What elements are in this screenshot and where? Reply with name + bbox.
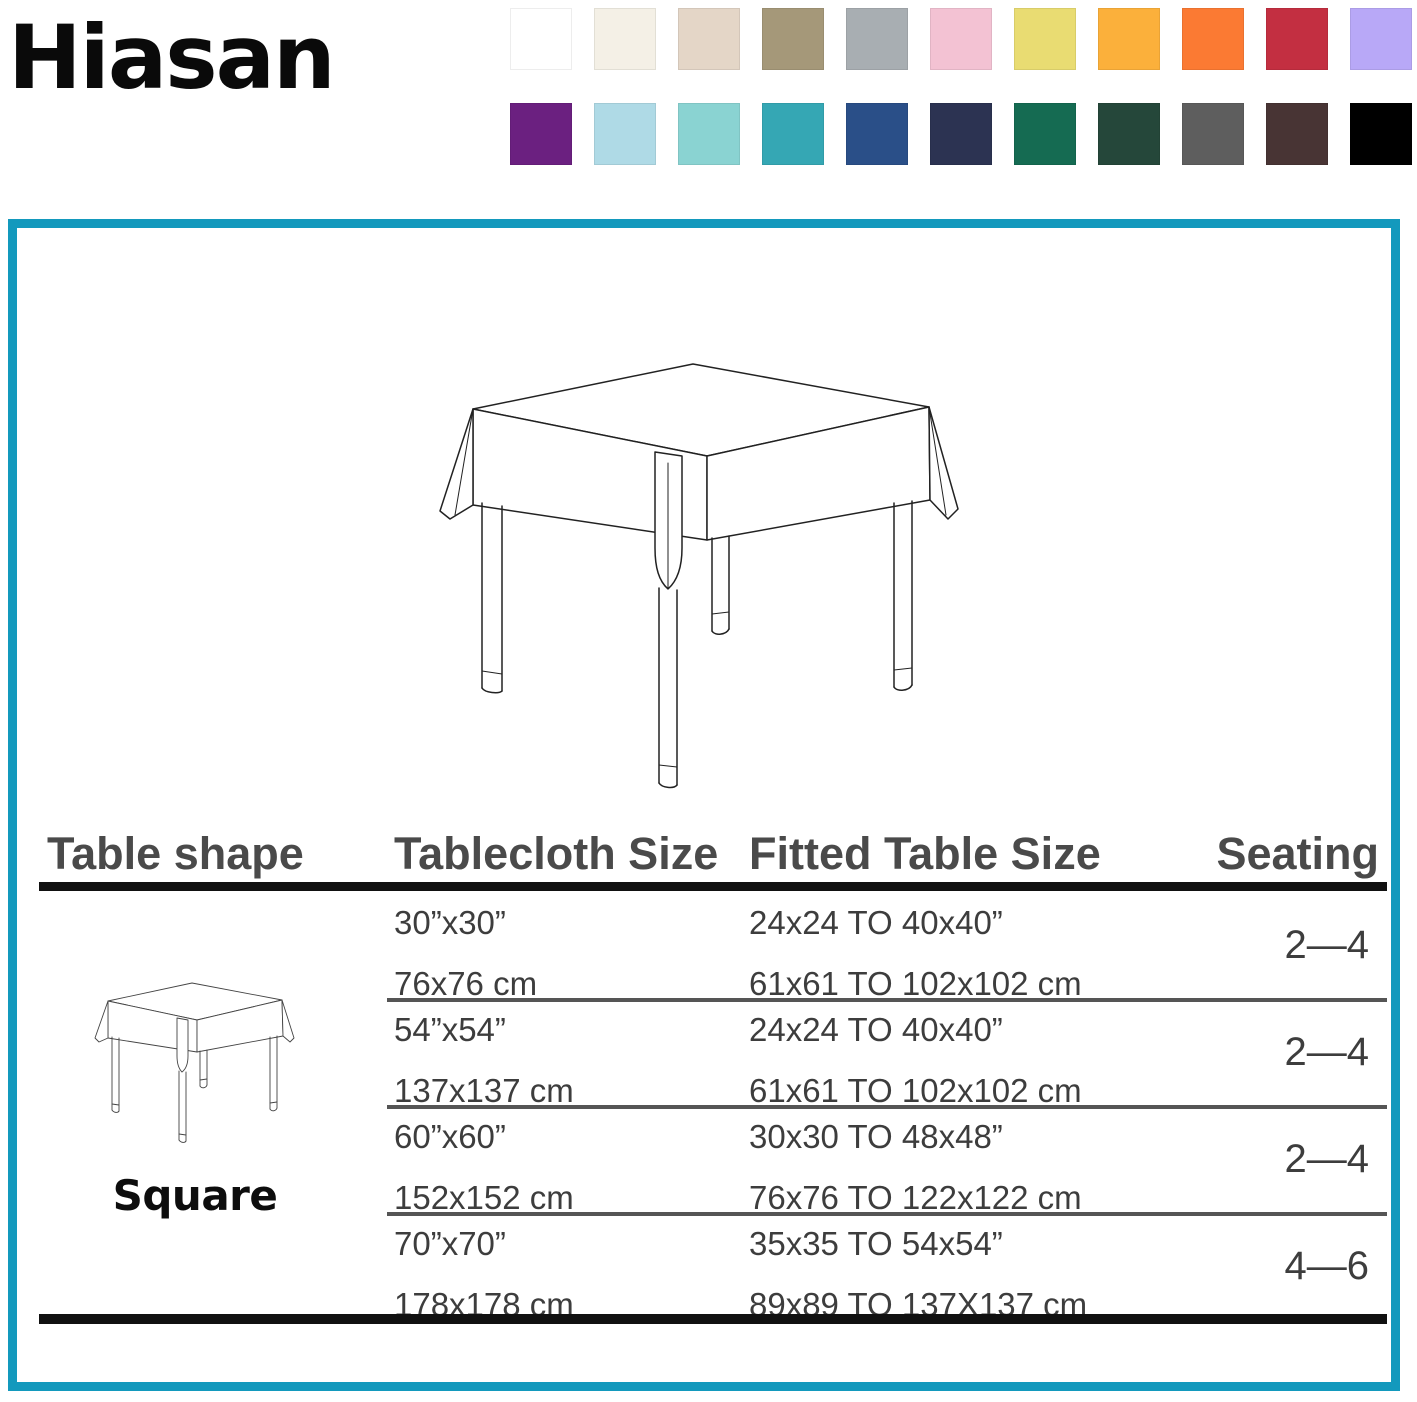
cell-tablecloth-size: 54”x54”137x137 cm: [394, 1008, 574, 1113]
table-row: 30”x30”76x76 cm24x24 TO 40x40”61x61 TO 1…: [39, 891, 1387, 998]
fitted-table-size-inches: 30x30 TO 48x48”: [749, 1118, 1003, 1155]
color-swatch-forest-green[interactable]: [1098, 103, 1160, 165]
table-row: 54”x54”137x137 cm24x24 TO 40x40”61x61 TO…: [39, 998, 1387, 1105]
color-swatch-grid: [510, 8, 1410, 198]
table-row: 70”x70”178x178 cm35x35 TO 54x54”89x89 TO…: [39, 1212, 1387, 1319]
column-header-fitted-table-size: Fitted Table Size: [749, 831, 1101, 876]
color-swatch-aqua[interactable]: [678, 103, 740, 165]
color-swatch-pink[interactable]: [930, 8, 992, 70]
color-swatch-light-blue[interactable]: [594, 103, 656, 165]
color-swatch-yellow[interactable]: [1014, 8, 1076, 70]
fitted-table-size-inches: 24x24 TO 40x40”: [749, 904, 1003, 941]
color-swatch-dark-gray[interactable]: [1182, 103, 1244, 165]
fitted-table-size-inches: 35x35 TO 54x54”: [749, 1225, 1003, 1262]
fitted-table-size-inches: 24x24 TO 40x40”: [749, 1011, 1003, 1048]
cell-fitted-table-size: 30x30 TO 48x48”76x76 TO 122x122 cm: [749, 1115, 1082, 1220]
color-swatch-gray[interactable]: [846, 8, 908, 70]
tablecloth-size-inches: 54”x54”: [394, 1011, 506, 1048]
color-swatch-beige[interactable]: [678, 8, 740, 70]
color-swatch-row-2: [510, 103, 1410, 165]
color-swatch-white[interactable]: [510, 8, 572, 70]
tablecloth-size-inches: 30”x30”: [394, 904, 506, 941]
cell-fitted-table-size: 24x24 TO 40x40”61x61 TO 102x102 cm: [749, 1008, 1082, 1113]
square-table-illustration: [407, 333, 987, 813]
cell-seating: 2—4: [1285, 1025, 1370, 1079]
tablecloth-size-inches: 70”x70”: [394, 1225, 506, 1262]
cell-seating: 2—4: [1285, 918, 1370, 972]
brand-logo: Hiasan: [8, 14, 334, 102]
top-bar: Hiasan: [0, 0, 1417, 200]
header-divider: [39, 882, 1387, 891]
table-header-row: Table shape Tablecloth Size Fitted Table…: [39, 808, 1387, 876]
color-swatch-black[interactable]: [1350, 103, 1412, 165]
color-swatch-row-1: [510, 8, 1410, 70]
color-swatch-purple[interactable]: [510, 103, 572, 165]
color-swatch-ivory[interactable]: [594, 8, 656, 70]
color-swatch-dark-brown[interactable]: [1266, 103, 1328, 165]
color-swatch-crimson[interactable]: [1266, 8, 1328, 70]
column-header-seating: Seating: [1216, 831, 1379, 876]
table-body: 30”x30”76x76 cm24x24 TO 40x40”61x61 TO 1…: [39, 891, 1387, 1319]
color-swatch-teal[interactable]: [762, 103, 824, 165]
size-chart-table: Table shape Tablecloth Size Fitted Table…: [39, 808, 1387, 1319]
table-bottom-divider: [39, 1314, 1387, 1324]
cell-fitted-table-size: 24x24 TO 40x40”61x61 TO 102x102 cm: [749, 901, 1082, 1006]
color-swatch-lavender[interactable]: [1350, 8, 1412, 70]
table-row: 60”x60”152x152 cm30x30 TO 48x48”76x76 TO…: [39, 1105, 1387, 1212]
color-swatch-denim-blue[interactable]: [846, 103, 908, 165]
column-header-table-shape: Table shape: [47, 831, 304, 876]
cell-tablecloth-size: 30”x30”76x76 cm: [394, 901, 537, 1006]
color-swatch-orange[interactable]: [1182, 8, 1244, 70]
color-swatch-emerald[interactable]: [1014, 103, 1076, 165]
color-swatch-navy[interactable]: [930, 103, 992, 165]
color-swatch-taupe[interactable]: [762, 8, 824, 70]
cell-seating: 4—6: [1285, 1239, 1370, 1293]
column-header-tablecloth-size: Tablecloth Size: [394, 831, 718, 876]
cell-tablecloth-size: 60”x60”152x152 cm: [394, 1115, 574, 1220]
cell-seating: 2—4: [1285, 1132, 1370, 1186]
cell-tablecloth-size: 70”x70”178x178 cm: [394, 1222, 574, 1327]
size-chart-card: Square Table shape Tablecloth Size Fitte…: [8, 219, 1400, 1391]
cell-fitted-table-size: 35x35 TO 54x54”89x89 TO 137X137 cm: [749, 1222, 1087, 1327]
color-swatch-amber[interactable]: [1098, 8, 1160, 70]
tablecloth-size-inches: 60”x60”: [394, 1118, 506, 1155]
